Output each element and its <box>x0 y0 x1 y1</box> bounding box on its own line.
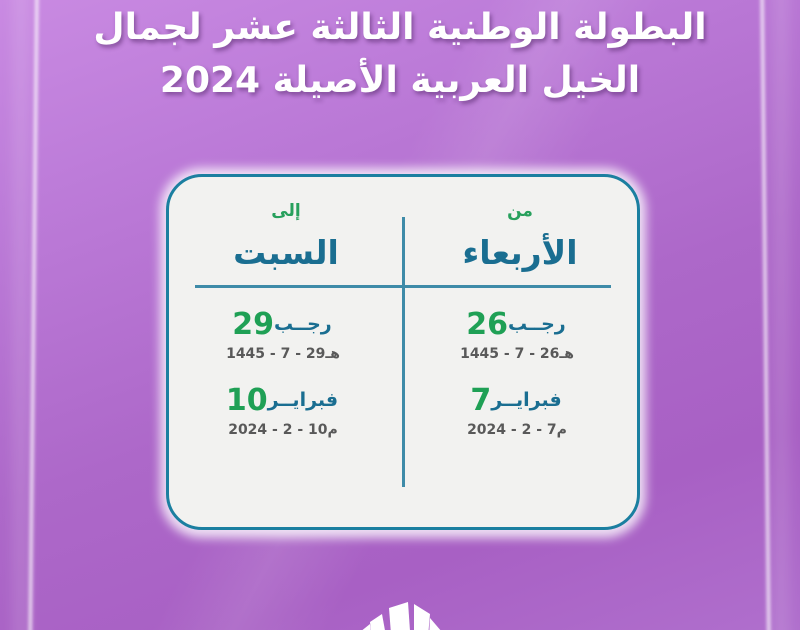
from-gregorian-date: فبرايــر7 م7 - 2 - 2024 <box>423 384 617 439</box>
to-gregorian-day: 10 <box>226 383 268 418</box>
palm-fan-logo-icon <box>356 588 444 630</box>
from-gregorian-era: م <box>557 422 567 438</box>
from-hijri-main: رجــب26 <box>423 308 617 341</box>
to-gregorian-full: م10 - 2 - 2024 <box>189 422 383 439</box>
from-gregorian-full: م7 - 2 - 2024 <box>423 422 617 439</box>
title-line-2: الخيل العربية الأصيلة 2024 <box>0 55 800 108</box>
from-label: من <box>423 203 617 220</box>
to-hijri-main: رجــب29 <box>189 308 383 341</box>
from-hijri-full: هـ26 - 7 - 1445 <box>423 346 617 363</box>
from-spacer <box>423 368 617 384</box>
to-hijri-day: 29 <box>232 307 274 342</box>
to-divider-rule <box>195 285 403 288</box>
to-spacer <box>189 368 383 384</box>
to-hijri-numeric: 29 - 7 - 1445 <box>226 346 325 362</box>
event-poster: البطولة الوطنية الثالثة عشر لجمال الخيل … <box>0 0 800 630</box>
from-hijri-day: 26 <box>466 307 508 342</box>
from-divider-rule <box>403 285 611 288</box>
column-divider <box>402 217 405 487</box>
page-title: البطولة الوطنية الثالثة عشر لجمال الخيل … <box>0 0 800 107</box>
to-label: إلى <box>189 203 383 220</box>
to-gregorian-era: م <box>328 422 338 438</box>
to-weekday: السبت <box>189 236 383 271</box>
title-line-1: البطولة الوطنية الثالثة عشر لجمال <box>0 2 800 55</box>
column-from: من الأربعاء رجــب26 هـ26 - 7 - 1445 فبرا… <box>403 177 637 527</box>
from-hijri-era: هـ <box>559 346 574 362</box>
from-hijri-numeric: 26 - 7 - 1445 <box>460 346 559 362</box>
date-range-card: إلى السبت رجــب29 هـ29 - 7 - 1445 فبرايـ… <box>166 174 640 530</box>
to-gregorian-month: فبرايــر <box>268 389 338 411</box>
card-body: إلى السبت رجــب29 هـ29 - 7 - 1445 فبرايـ… <box>166 174 640 530</box>
column-to: إلى السبت رجــب29 هـ29 - 7 - 1445 فبرايـ… <box>169 177 403 527</box>
to-hijri-date: رجــب29 هـ29 - 7 - 1445 <box>189 308 383 363</box>
from-hijri-month: رجــب <box>508 313 566 335</box>
to-gregorian-main: فبرايــر10 <box>189 384 383 417</box>
from-gregorian-month: فبرايــر <box>491 389 561 411</box>
to-hijri-era: هـ <box>325 346 340 362</box>
from-gregorian-main: فبرايــر7 <box>423 384 617 417</box>
to-gregorian-date: فبرايــر10 م10 - 2 - 2024 <box>189 384 383 439</box>
to-hijri-full: هـ29 - 7 - 1445 <box>189 346 383 363</box>
to-gregorian-numeric: 10 - 2 - 2024 <box>228 422 327 438</box>
from-gregorian-day: 7 <box>470 383 491 418</box>
from-weekday: الأربعاء <box>423 236 617 271</box>
from-hijri-date: رجــب26 هـ26 - 7 - 1445 <box>423 308 617 363</box>
from-gregorian-numeric: 7 - 2 - 2024 <box>467 422 557 438</box>
to-hijri-month: رجــب <box>274 313 332 335</box>
